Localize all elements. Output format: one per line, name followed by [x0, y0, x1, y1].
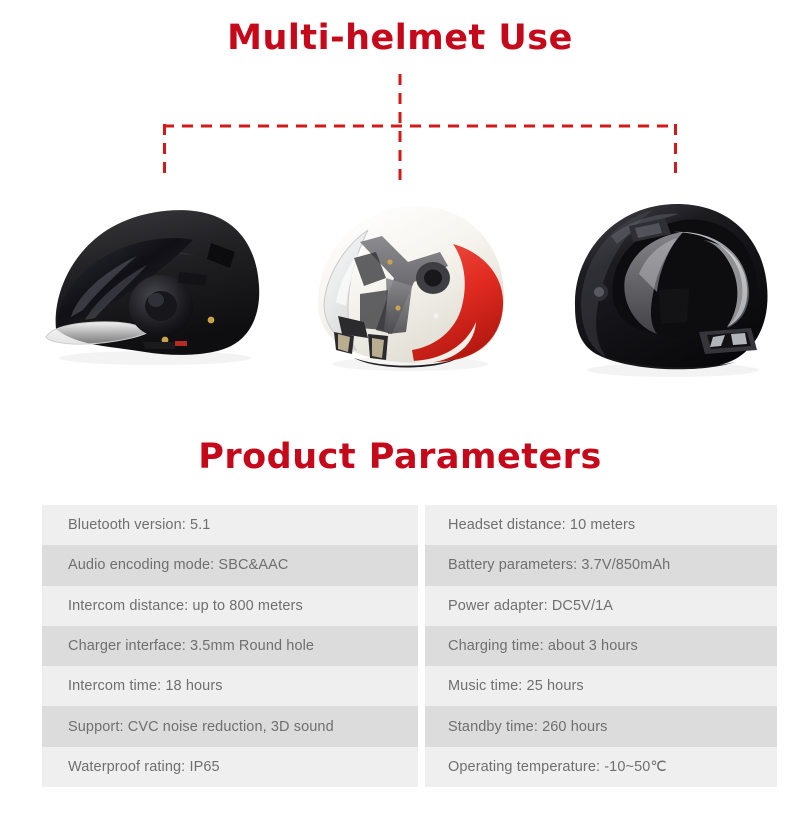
table-row: Power adapter: DC5V/1A [425, 586, 777, 626]
helmet-gallery [0, 182, 800, 387]
table-row: Charging time: about 3 hours [425, 626, 777, 666]
parameters-right-column: Headset distance: 10 meters Battery para… [425, 505, 777, 787]
table-row: Audio encoding mode: SBC&AAC [42, 545, 418, 585]
dashed-connector-bracket [0, 0, 800, 200]
table-row: Standby time: 260 hours [425, 706, 777, 746]
product-parameters-table: Bluetooth version: 5.1 Audio encoding mo… [42, 505, 777, 787]
helmet-image-white-red-stripe[interactable] [290, 182, 520, 387]
table-row: Operating temperature: -10~50℃ [425, 747, 777, 787]
table-row: Headset distance: 10 meters [425, 505, 777, 545]
table-row: Intercom time: 18 hours [42, 666, 418, 706]
table-row: Charger interface: 3.5mm Round hole [42, 626, 418, 666]
table-row: Bluetooth version: 5.1 [42, 505, 418, 545]
section-title-product-parameters: Product Parameters [0, 437, 800, 477]
table-row: Waterproof rating: IP65 [42, 747, 418, 787]
table-row: Music time: 25 hours [425, 666, 777, 706]
helmet-image-gloss-black-full-face[interactable] [555, 182, 790, 387]
table-row: Support: CVC noise reduction, 3D sound [42, 706, 418, 746]
table-row: Battery parameters: 3.7V/850mAh [425, 545, 777, 585]
helmet-image-matte-black-open-face[interactable] [25, 182, 280, 387]
column-divider [418, 505, 425, 787]
parameters-left-column: Bluetooth version: 5.1 Audio encoding mo… [42, 505, 418, 787]
table-row: Intercom distance: up to 800 meters [42, 586, 418, 626]
product-detail-page: Multi-helmet Use [0, 0, 800, 836]
